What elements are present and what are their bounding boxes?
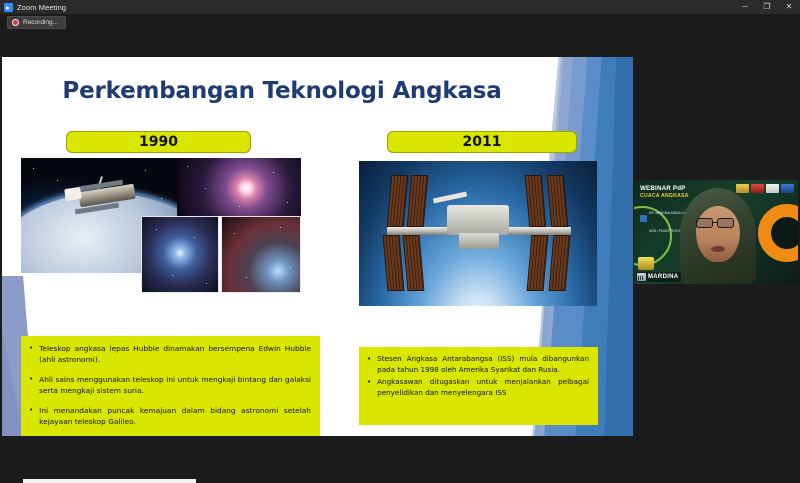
presentation-slide: Perkembangan Teknologi Angkasa 1990 2011 bbox=[2, 57, 633, 436]
year-badge-left: 1990 bbox=[66, 131, 251, 153]
solar-panel-graphic bbox=[527, 235, 549, 291]
eyeglasses-icon bbox=[717, 218, 734, 228]
recording-button[interactable]: Recording... bbox=[7, 16, 66, 29]
bullet-icon: • bbox=[29, 374, 33, 396]
face-graphic bbox=[696, 206, 740, 262]
starfield bbox=[222, 217, 300, 292]
bullet-text: Ini menandakan puncak kemajuan dalam bid… bbox=[39, 405, 311, 427]
solar-panel-graphic bbox=[549, 235, 571, 291]
bullet-icon: • bbox=[367, 377, 371, 398]
window-controls: ─ ❐ ✕ bbox=[734, 0, 800, 14]
bullet-text: Stesen Angkasa Antarabangsa (ISS) mula d… bbox=[377, 354, 589, 375]
content-textbox-right: • Stesen Angkasa Antarabangsa (ISS) mula… bbox=[359, 347, 598, 425]
radiator-graphic bbox=[433, 192, 467, 204]
bullet-text: Angkasawan ditugaskan untuk menjalankan … bbox=[377, 377, 589, 398]
year-badge-right: 2011 bbox=[387, 131, 577, 153]
list-item: • Stesen Angkasa Antarabangsa (ISS) mula… bbox=[367, 354, 589, 375]
window-title: Zoom Meeting bbox=[17, 3, 66, 12]
list-item: • Ahli sains menggunakan teleskop ini un… bbox=[29, 374, 311, 396]
participant-avatar bbox=[672, 188, 764, 284]
zoom-video-icon bbox=[4, 3, 13, 12]
hubble-telescope-collage bbox=[21, 158, 301, 293]
solar-panel-graphic bbox=[403, 235, 425, 291]
bullet-icon: • bbox=[29, 343, 33, 365]
participant-name: MARDINA bbox=[648, 274, 678, 280]
minimize-icon[interactable]: ─ bbox=[734, 0, 756, 14]
window-titlebar: Zoom Meeting ─ ❐ ✕ bbox=[0, 0, 800, 14]
recording-label: Recording... bbox=[23, 19, 58, 26]
eyeglasses-icon bbox=[696, 218, 713, 228]
starfield bbox=[142, 217, 218, 292]
station-module-graphic bbox=[447, 205, 509, 235]
solar-panel-graphic bbox=[407, 175, 429, 227]
recording-bar: Recording... bbox=[0, 14, 800, 32]
bullet-icon: • bbox=[29, 405, 33, 427]
iss-photo bbox=[359, 161, 597, 306]
list-item: • Angkasawan ditugaskan untuk menjalanka… bbox=[367, 377, 589, 398]
solar-panel-graphic bbox=[383, 235, 405, 291]
participant-name-badge: MARDINA bbox=[636, 272, 681, 282]
bullet-text: Teleskop angkasa lepas Hubble dinamakan … bbox=[39, 343, 311, 365]
list-item: • Ini menandakan puncak kemajuan dalam b… bbox=[29, 405, 311, 427]
maximize-icon[interactable]: ❐ bbox=[756, 0, 778, 14]
list-item: • Teleskop angkasa lepas Hubble dinamaka… bbox=[29, 343, 311, 365]
solar-panel-graphic bbox=[387, 175, 409, 227]
nebula-photo-2 bbox=[141, 216, 219, 293]
ukm-logo-icon bbox=[638, 257, 654, 270]
bullet-icon: • bbox=[367, 354, 371, 375]
mouth-graphic bbox=[711, 246, 725, 252]
solar-panel-graphic bbox=[547, 175, 569, 227]
record-dot-icon bbox=[12, 19, 19, 26]
speaker-chip-icon bbox=[640, 215, 647, 222]
nebula-photo-1 bbox=[177, 158, 301, 216]
bullet-text: Ahli sains menggunakan teleskop ini untu… bbox=[39, 374, 311, 396]
eyeglasses-bridge bbox=[713, 222, 717, 223]
starfield bbox=[177, 158, 301, 216]
solar-panel-graphic bbox=[525, 175, 547, 227]
station-module-graphic bbox=[459, 233, 499, 249]
participant-video-tile[interactable]: WEBINAR PdP CUACA ANGKASA DR. MARDINA AB… bbox=[634, 180, 798, 284]
next-slide-peek bbox=[23, 479, 196, 483]
close-icon[interactable]: ✕ bbox=[778, 0, 800, 14]
content-textbox-left: • Teleskop angkasa lepas Hubble dinamaka… bbox=[21, 336, 320, 436]
page-title: Perkembangan Teknologi Angkasa bbox=[2, 78, 562, 104]
video-signal-icon bbox=[637, 273, 646, 281]
nebula-photo-3 bbox=[221, 216, 301, 293]
